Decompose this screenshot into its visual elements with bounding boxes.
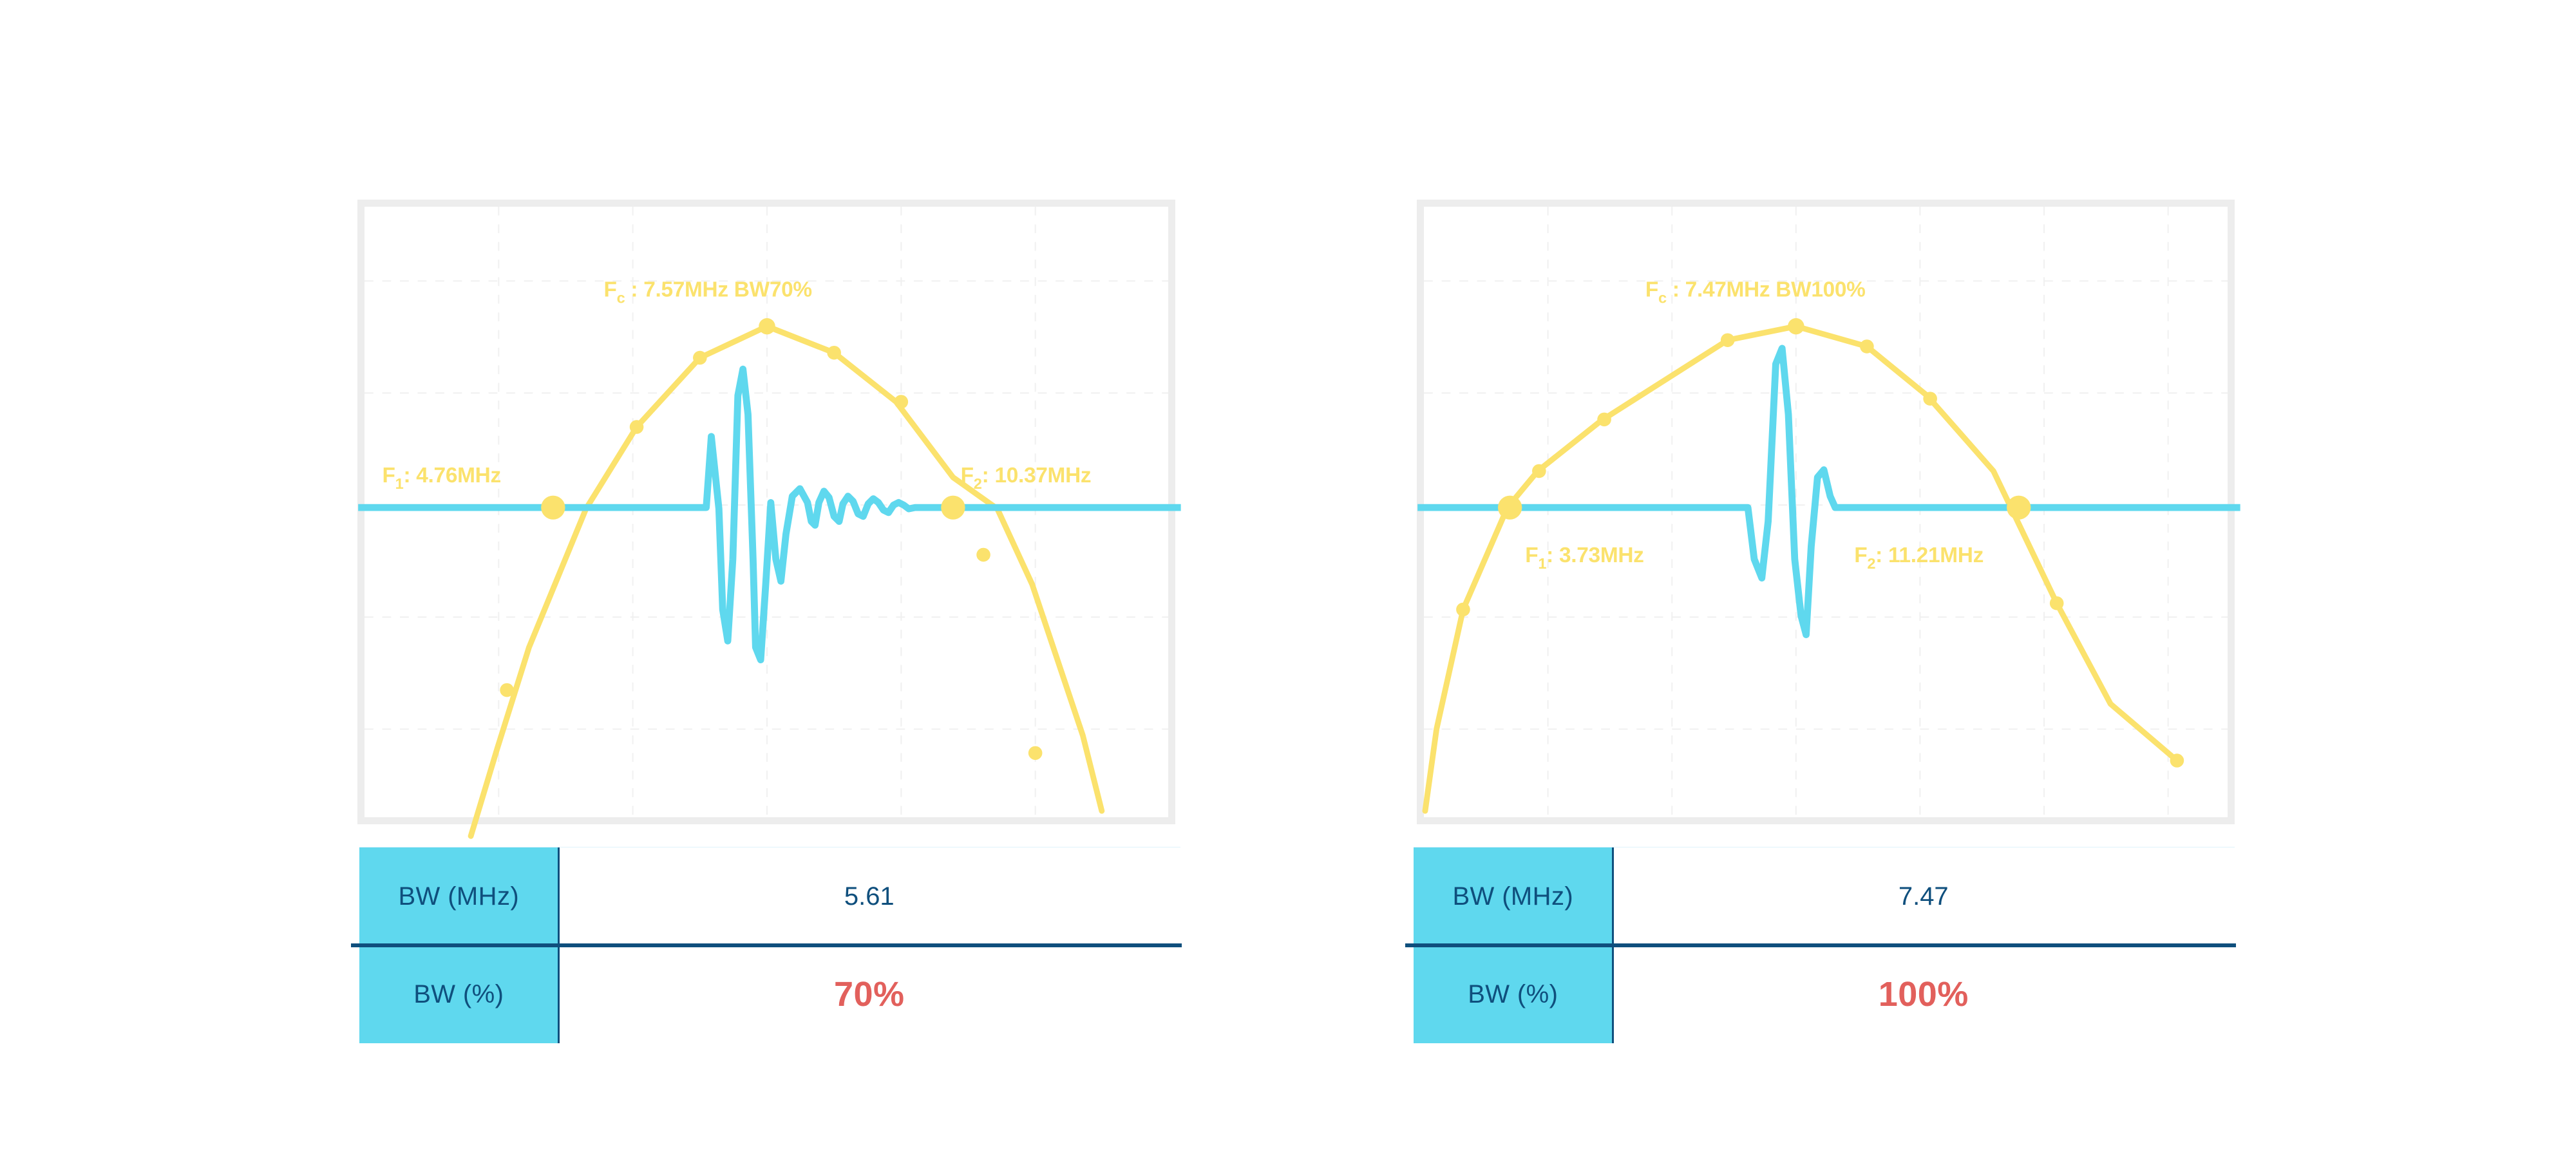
table-row: BW (%) 70%: [359, 945, 1180, 1043]
bw-pct-value-left: 70%: [558, 945, 1180, 1043]
chart-canvas-right: Fc : 7.47MHz BW100% F1: 3.73MHz F2: 11.2…: [1424, 207, 2228, 817]
table-middle-rule-right: [1405, 943, 2236, 947]
spectrum-markers-right: [1456, 318, 2184, 768]
bw-pct-value-right: 100%: [1613, 945, 2235, 1043]
fc-label-right: Fc : 7.47MHz BW100%: [1645, 278, 1866, 307]
chart-frame-left: Fc : 7.57MHz BW70% F1: 4.76MHz F2: 10.37…: [357, 200, 1175, 824]
fc-label-left: Fc : 7.57MHz BW70%: [603, 278, 811, 307]
table-row: BW (MHz) 5.61: [359, 847, 1180, 945]
chart-frame-right: Fc : 7.47MHz BW100% F1: 3.73MHz F2: 11.2…: [1417, 200, 2235, 824]
spectrum-curve-left: [471, 326, 1102, 837]
f2-label-right: F2: 11.21MHz: [1854, 544, 1984, 572]
bw-mhz-value-left: 5.61: [558, 847, 1180, 945]
spectrum-curve-left-b: [767, 326, 834, 353]
f1-label-right: F1: 3.73MHz: [1525, 544, 1643, 572]
chart-canvas-left: Fc : 7.57MHz BW70% F1: 4.76MHz F2: 10.37…: [365, 207, 1168, 817]
bw-mhz-key-right: BW (MHz): [1414, 847, 1613, 945]
bw-pct-key-left: BW (%): [359, 945, 558, 1043]
table-row: BW (MHz) 7.47: [1414, 847, 2235, 945]
f1-label-left: F1: 4.76MHz: [383, 464, 501, 492]
bw-pct-key-right: BW (%): [1414, 945, 1613, 1043]
bw-mhz-value-right: 7.47: [1613, 847, 2235, 945]
pulse-waveform-left: [358, 369, 1180, 660]
f2-label-left: F2: 10.37MHz: [961, 464, 1092, 492]
pulse-waveform-right: [1417, 348, 2240, 635]
table-row: BW (%) 100%: [1414, 945, 2235, 1043]
table-middle-rule-left: [351, 943, 1182, 947]
bw-mhz-key-left: BW (MHz): [359, 847, 558, 945]
